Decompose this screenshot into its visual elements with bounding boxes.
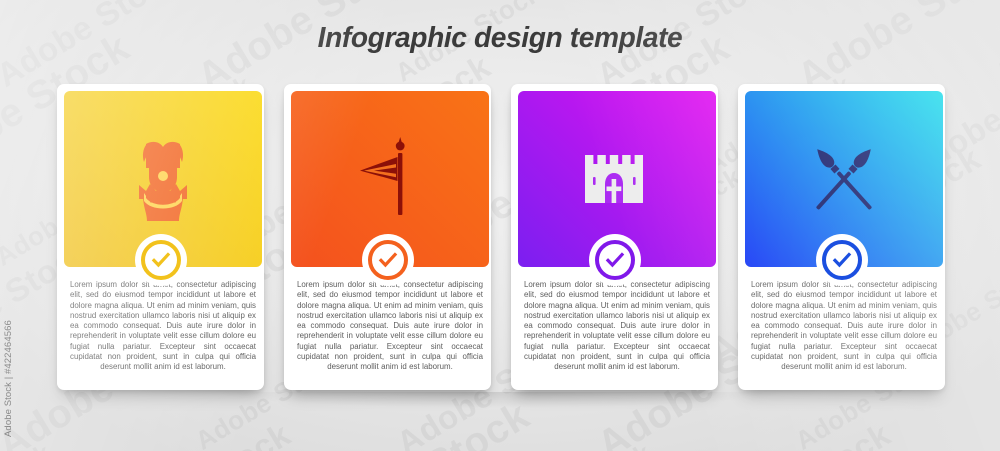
infographic-card[interactable]: Lorem ipsum dolor sit amet, consectetur … [511,84,718,390]
badge-ring [822,240,862,280]
infographic-card[interactable]: Lorem ipsum dolor sit amet, consectetur … [284,84,491,390]
check-icon [150,249,172,271]
watermark-text: Adobe Stock [990,117,1000,284]
watermark-text: Adobe Stock [0,437,57,451]
watermark-text: Adobe Stock [300,0,537,9]
watermark-text: Adobe Stock [900,393,1000,451]
watermark-text: Adobe Stock [900,0,1000,9]
status-badge[interactable] [816,234,868,286]
badge-ring [141,240,181,280]
floor-shadow [90,392,910,430]
card-body-text: Lorem ipsum dolor sit amet, consectetur … [70,280,256,373]
watermark-text: Adobe Stock [100,415,297,451]
card-body-text: Lorem ipsum dolor sit amet, consectetur … [524,280,710,373]
watermark-text: Adobe Stock [100,0,297,3]
watermark-text: Adobe Stock [990,0,1000,89]
status-badge[interactable] [362,234,414,286]
watermark-text: Adobe Stock [700,0,897,3]
card-body-text: Lorem ipsum dolor sit amet, consectetur … [297,280,483,373]
badge-ring [595,240,635,280]
watermark-text: Adobe Stock [700,415,897,451]
badge-ring [368,240,408,280]
status-badge[interactable] [589,234,641,286]
check-icon [604,249,626,271]
infographic-card[interactable]: Lorem ipsum dolor sit amet, consectetur … [738,84,945,390]
stock-credit: Adobe Stock | #422464566 [3,320,14,437]
status-badge[interactable] [135,234,187,286]
card-row: Lorem ipsum dolor sit amet, consectetur … [57,84,945,390]
page-title: Infographic design template [15,22,985,55]
infographic-card[interactable]: Lorem ipsum dolor sit amet, consectetur … [57,84,264,390]
check-icon [377,249,399,271]
card-body-text: Lorem ipsum dolor sit amet, consectetur … [751,280,937,373]
infographic-canvas: Adobe StockAdobe StockAdobe StockAdobe S… [0,0,1000,451]
watermark-text: Adobe Stock [300,393,537,451]
pennant-flag-icon [340,129,440,229]
castle-wall-icon [567,129,667,229]
crossed-spears-icon [794,129,894,229]
check-icon [831,249,853,271]
jester-icon [113,129,213,229]
watermark-text: Adobe Stock [500,437,657,451]
watermark-text: Adobe Stock [990,323,1000,451]
